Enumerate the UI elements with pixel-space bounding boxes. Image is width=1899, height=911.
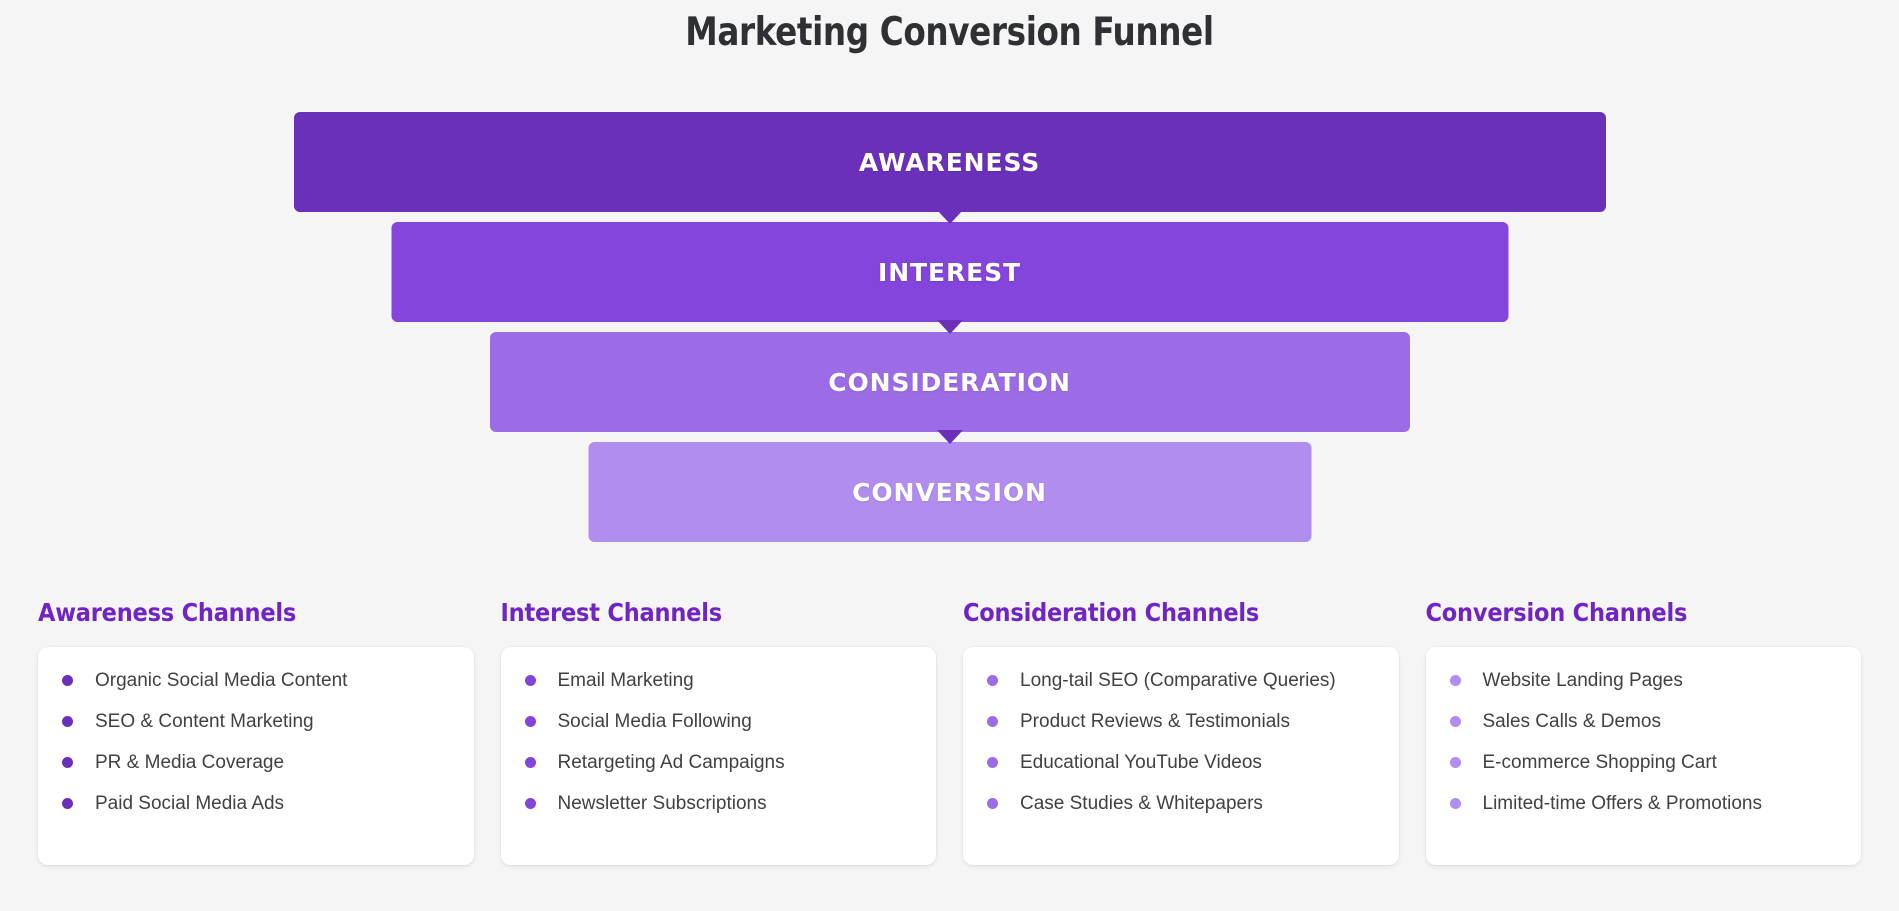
list-item[interactable]: Limited-time Offers & Promotions <box>1450 793 1840 815</box>
channel-column-interest: Interest Channels Email Marketing Social… <box>501 598 937 865</box>
list-item[interactable]: Retargeting Ad Campaigns <box>525 752 915 774</box>
list-item-label: SEO & Content Marketing <box>95 711 314 733</box>
list-item-label: Paid Social Media Ads <box>95 793 284 815</box>
bullet-icon <box>1450 716 1461 727</box>
funnel-stage-row: CONVERSION <box>0 442 1899 542</box>
list-item-label: Educational YouTube Videos <box>1020 752 1262 774</box>
bullet-icon <box>987 798 998 809</box>
list-item[interactable]: SEO & Content Marketing <box>62 711 452 733</box>
list-item-label: Long-tail SEO (Comparative Queries) <box>1020 670 1336 692</box>
list-item-label: Website Landing Pages <box>1483 670 1683 692</box>
channel-heading: Interest Channels <box>501 598 937 627</box>
channel-column-awareness: Awareness Channels Organic Social Media … <box>38 598 474 865</box>
page-title: Marketing Conversion Funnel <box>66 10 1832 55</box>
funnel-stage-interest[interactable]: INTEREST <box>391 222 1508 322</box>
bullet-icon <box>525 675 536 686</box>
list-item-label: Sales Calls & Demos <box>1483 711 1661 733</box>
channel-heading: Awareness Channels <box>38 598 474 627</box>
funnel-chart: AWARENESS INTEREST CONSIDERATION CONVERS… <box>0 112 1899 542</box>
list-item-label: E-commerce Shopping Cart <box>1483 752 1717 774</box>
channel-list: Website Landing Pages Sales Calls & Demo… <box>1450 670 1840 814</box>
chevron-down-icon <box>937 320 963 334</box>
channel-list: Email Marketing Social Media Following R… <box>525 670 915 814</box>
channel-heading: Consideration Channels <box>963 598 1399 627</box>
list-item-label: Product Reviews & Testimonials <box>1020 711 1290 733</box>
funnel-stage-awareness[interactable]: AWARENESS <box>294 112 1606 212</box>
list-item[interactable]: Newsletter Subscriptions <box>525 793 915 815</box>
funnel-stage-row: INTEREST <box>0 222 1899 322</box>
bullet-icon <box>1450 798 1461 809</box>
funnel-stage-conversion[interactable]: CONVERSION <box>588 442 1311 542</box>
chevron-down-icon <box>937 210 963 224</box>
channel-card: Organic Social Media Content SEO & Conte… <box>38 647 474 865</box>
channel-list: Organic Social Media Content SEO & Conte… <box>62 670 452 814</box>
bullet-icon <box>525 798 536 809</box>
bullet-icon <box>1450 675 1461 686</box>
bullet-icon <box>987 675 998 686</box>
list-item-label: Email Marketing <box>558 670 694 692</box>
channel-list: Long-tail SEO (Comparative Queries) Prod… <box>987 670 1377 814</box>
channel-heading: Conversion Channels <box>1426 598 1862 627</box>
bullet-icon <box>525 757 536 768</box>
list-item[interactable]: Social Media Following <box>525 711 915 733</box>
bullet-icon <box>62 716 73 727</box>
list-item-label: Case Studies & Whitepapers <box>1020 793 1263 815</box>
channel-column-consideration: Consideration Channels Long-tail SEO (Co… <box>963 598 1399 865</box>
funnel-diagram-page: Marketing Conversion Funnel AWARENESS IN… <box>0 0 1899 911</box>
bullet-icon <box>987 757 998 768</box>
chevron-down-icon <box>937 430 963 444</box>
channel-card: Email Marketing Social Media Following R… <box>501 647 937 865</box>
channel-columns: Awareness Channels Organic Social Media … <box>38 598 1861 865</box>
list-item[interactable]: Organic Social Media Content <box>62 670 452 692</box>
list-item[interactable]: Email Marketing <box>525 670 915 692</box>
list-item-label: Newsletter Subscriptions <box>558 793 767 815</box>
list-item-label: PR & Media Coverage <box>95 752 284 774</box>
list-item-label: Retargeting Ad Campaigns <box>558 752 785 774</box>
list-item-label: Social Media Following <box>558 711 752 733</box>
list-item[interactable]: Case Studies & Whitepapers <box>987 793 1377 815</box>
bullet-icon <box>62 798 73 809</box>
funnel-stage-consideration[interactable]: CONSIDERATION <box>490 332 1410 432</box>
channel-card: Long-tail SEO (Comparative Queries) Prod… <box>963 647 1399 865</box>
channel-column-conversion: Conversion Channels Website Landing Page… <box>1426 598 1862 865</box>
channel-card: Website Landing Pages Sales Calls & Demo… <box>1426 647 1862 865</box>
list-item-label: Organic Social Media Content <box>95 670 347 692</box>
bullet-icon <box>1450 757 1461 768</box>
bullet-icon <box>62 757 73 768</box>
list-item[interactable]: Product Reviews & Testimonials <box>987 711 1377 733</box>
list-item-label: Limited-time Offers & Promotions <box>1483 793 1762 815</box>
list-item[interactable]: Sales Calls & Demos <box>1450 711 1840 733</box>
list-item[interactable]: Website Landing Pages <box>1450 670 1840 692</box>
bullet-icon <box>525 716 536 727</box>
funnel-stage-row: AWARENESS <box>0 112 1899 212</box>
list-item[interactable]: Educational YouTube Videos <box>987 752 1377 774</box>
list-item[interactable]: Paid Social Media Ads <box>62 793 452 815</box>
list-item[interactable]: PR & Media Coverage <box>62 752 452 774</box>
funnel-stage-row: CONSIDERATION <box>0 332 1899 432</box>
list-item[interactable]: Long-tail SEO (Comparative Queries) <box>987 670 1377 692</box>
list-item[interactable]: E-commerce Shopping Cart <box>1450 752 1840 774</box>
bullet-icon <box>62 675 73 686</box>
bullet-icon <box>987 716 998 727</box>
